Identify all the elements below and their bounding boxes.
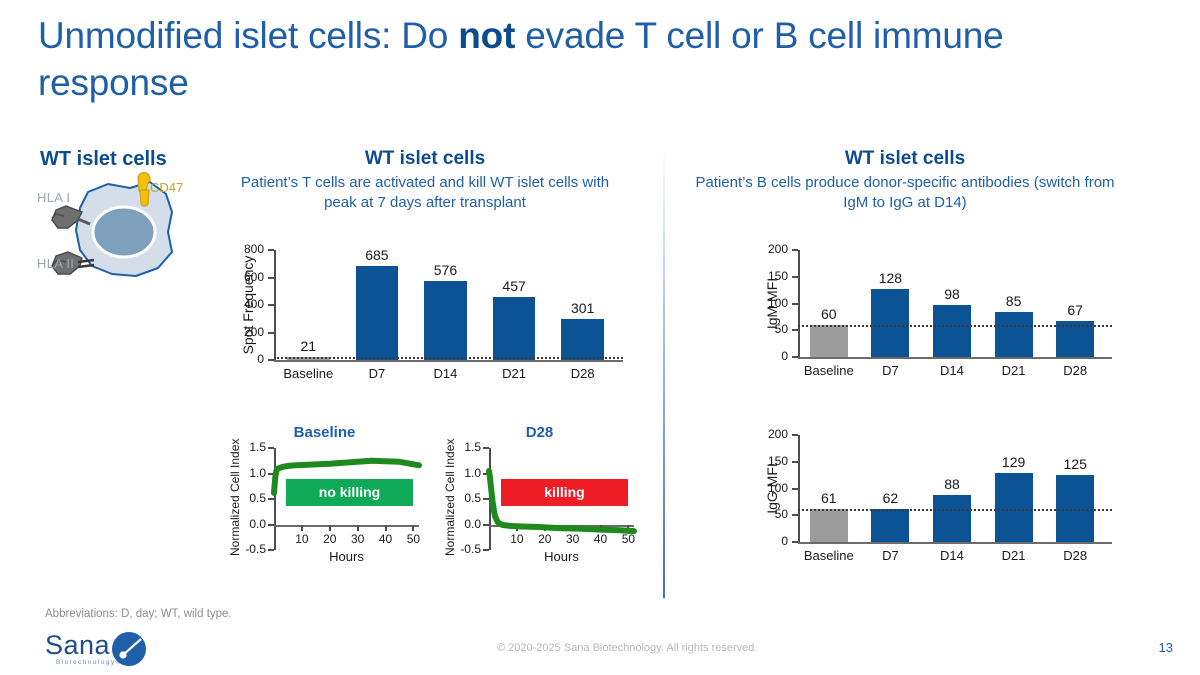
y-tick — [268, 498, 274, 500]
x-tick-label: 20 — [531, 532, 559, 546]
x-axis-title: Hours — [489, 549, 634, 564]
center-heading: WT islet cells — [225, 148, 625, 170]
x-axis-line — [798, 542, 1112, 544]
chart-title: Baseline — [222, 424, 427, 441]
bar-value-D21: 129 — [981, 454, 1047, 470]
category-label-D28: D28 — [543, 366, 622, 381]
bar-value-D7: 685 — [342, 247, 413, 263]
bar-D7 — [871, 289, 909, 357]
logo-tagline: Biotechnology® — [56, 658, 122, 666]
y-axis-line — [274, 448, 276, 550]
bar-value-D14: 576 — [410, 262, 481, 278]
y-tick — [268, 277, 274, 279]
y-axis-title: Normalized Cell Index — [443, 442, 457, 556]
x-tick-label: 10 — [288, 532, 316, 546]
x-tick-label: 40 — [372, 532, 400, 546]
y-tick — [268, 304, 274, 306]
right-subheading: Patient’s B cells produce donor-specific… — [690, 173, 1120, 214]
y-tick — [483, 524, 489, 526]
y-tick — [483, 447, 489, 449]
category-label-D28: D28 — [1038, 548, 1112, 563]
bar-D21 — [995, 473, 1033, 542]
hla-2-label: HLA II — [37, 256, 74, 271]
cd47-label: CD47 — [150, 180, 183, 195]
right-heading: WT islet cells — [690, 148, 1120, 170]
y-tick — [792, 356, 798, 358]
page-number: 13 — [1159, 640, 1173, 655]
right-column-header: WT islet cells Patient’s B cells produce… — [690, 148, 1120, 214]
y-tick — [792, 329, 798, 331]
sana-biotechnology-logo: Sana Biotechnology® — [44, 628, 194, 670]
chart-igg-mfi: 050100150200IgG MFI61Baseline62D788D1412… — [752, 425, 1112, 572]
x-tick — [627, 525, 629, 531]
logo-needle-dot — [119, 651, 126, 658]
hla-1-label: HLA I — [37, 190, 70, 205]
x-tick — [572, 525, 574, 531]
y-axis-title: Normalized Cell Index — [228, 442, 242, 556]
bar-value-Baseline: 60 — [796, 306, 862, 322]
bar-value-D21: 457 — [479, 278, 550, 294]
threshold-line — [798, 509, 1112, 511]
bar-D7 — [871, 509, 909, 542]
y-axis-line — [798, 435, 800, 542]
y-tick — [792, 488, 798, 490]
threshold-line — [798, 325, 1112, 327]
y-tick — [268, 524, 274, 526]
chart-title: D28 — [437, 424, 642, 441]
bar-value-Baseline: 21 — [273, 338, 344, 354]
x-tick — [301, 525, 303, 531]
y-tick — [792, 514, 798, 516]
bar-value-D7: 128 — [857, 270, 923, 286]
page-title: Unmodified islet cells: Do not evade T c… — [38, 12, 1158, 107]
bar-D28 — [561, 319, 604, 360]
category-label-D7: D7 — [338, 366, 417, 381]
bar-value-D28: 125 — [1042, 456, 1108, 472]
x-tick — [600, 525, 602, 531]
y-tick — [268, 359, 274, 361]
y-axis-line — [489, 448, 491, 550]
y-tick — [792, 303, 798, 305]
x-tick — [544, 525, 546, 531]
chart-spot-frequency: 0200400600800Spot Frequency21Baseline685… — [228, 240, 623, 390]
y-tick — [792, 541, 798, 543]
bar-value-D14: 98 — [919, 286, 985, 302]
y-tick — [268, 473, 274, 475]
x-tick-label: 40 — [587, 532, 615, 546]
center-column-header: WT islet cells Patient’s T cells are act… — [225, 148, 625, 214]
x-tick — [329, 525, 331, 531]
chart-igm-mfi: 050100150200IgM MFI60Baseline128D798D148… — [752, 240, 1112, 387]
x-tick-label: 50 — [399, 532, 427, 546]
x-axis-title: Hours — [274, 549, 419, 564]
center-subheading: Patient’s T cells are activated and kill… — [225, 173, 625, 214]
x-tick-label: 30 — [559, 532, 587, 546]
category-label-D14: D14 — [406, 366, 485, 381]
x-axis-line — [798, 357, 1112, 359]
bar-Baseline — [810, 509, 848, 542]
bar-D14 — [933, 495, 971, 542]
abbreviations-note: Abbreviations: D, day; WT, wild type. — [45, 608, 232, 620]
bar-value-D7: 62 — [857, 490, 923, 506]
chart-d28-killing: D28-0.50.00.51.01.51020304050Normalized … — [437, 424, 642, 594]
y-axis-title: IgG MFI — [764, 435, 780, 542]
y-tick — [792, 276, 798, 278]
chart-baseline-killing: Baseline-0.50.00.51.01.51020304050Normal… — [222, 424, 427, 594]
y-tick — [483, 498, 489, 500]
category-label-Baseline: Baseline — [269, 366, 348, 381]
y-tick — [483, 473, 489, 475]
x-axis-line — [489, 525, 634, 527]
category-label-D21: D21 — [475, 366, 554, 381]
y-tick — [792, 461, 798, 463]
x-tick-label: 50 — [614, 532, 642, 546]
title-emphasis: not — [458, 15, 515, 56]
bar-D14 — [933, 305, 971, 357]
x-tick — [412, 525, 414, 531]
bar-D21 — [493, 297, 536, 360]
bar-value-Baseline: 61 — [796, 490, 862, 506]
y-tick — [792, 434, 798, 436]
y-axis-title: IgM MFI — [764, 250, 780, 357]
bar-value-D28: 67 — [1042, 302, 1108, 318]
x-tick — [357, 525, 359, 531]
bar-Baseline — [810, 325, 848, 357]
bar-D21 — [995, 312, 1033, 357]
logo-wordmark: Sana — [45, 630, 111, 660]
category-label-D28: D28 — [1038, 363, 1112, 378]
x-axis-line — [274, 360, 623, 362]
y-tick — [268, 332, 274, 334]
bar-value-D21: 85 — [981, 293, 1047, 309]
left-panel-title: WT islet cells — [40, 148, 167, 171]
column-divider — [663, 148, 665, 598]
annotation-tag: killing — [501, 479, 628, 506]
x-tick-label: 10 — [503, 532, 531, 546]
bar-D14 — [424, 281, 467, 360]
x-tick — [516, 525, 518, 531]
bar-value-D28: 301 — [547, 300, 618, 316]
title-segment-1: Unmodified islet cells: Do — [38, 15, 458, 56]
x-tick-label: 30 — [344, 532, 372, 546]
x-tick — [385, 525, 387, 531]
cell-nucleus — [93, 207, 155, 257]
x-tick-label: 20 — [316, 532, 344, 546]
annotation-tag: no killing — [286, 479, 413, 506]
y-tick — [268, 249, 274, 251]
y-tick — [792, 249, 798, 251]
bar-D7 — [356, 266, 399, 360]
y-axis-line — [798, 250, 800, 357]
x-axis-line — [274, 525, 419, 527]
threshold-line — [274, 357, 623, 359]
bar-value-D14: 88 — [919, 476, 985, 492]
copyright-text: © 2020-2025 Sana Biotechnology. All righ… — [497, 642, 757, 654]
y-axis-title: Spot Frequency — [240, 250, 256, 360]
y-tick — [268, 447, 274, 449]
